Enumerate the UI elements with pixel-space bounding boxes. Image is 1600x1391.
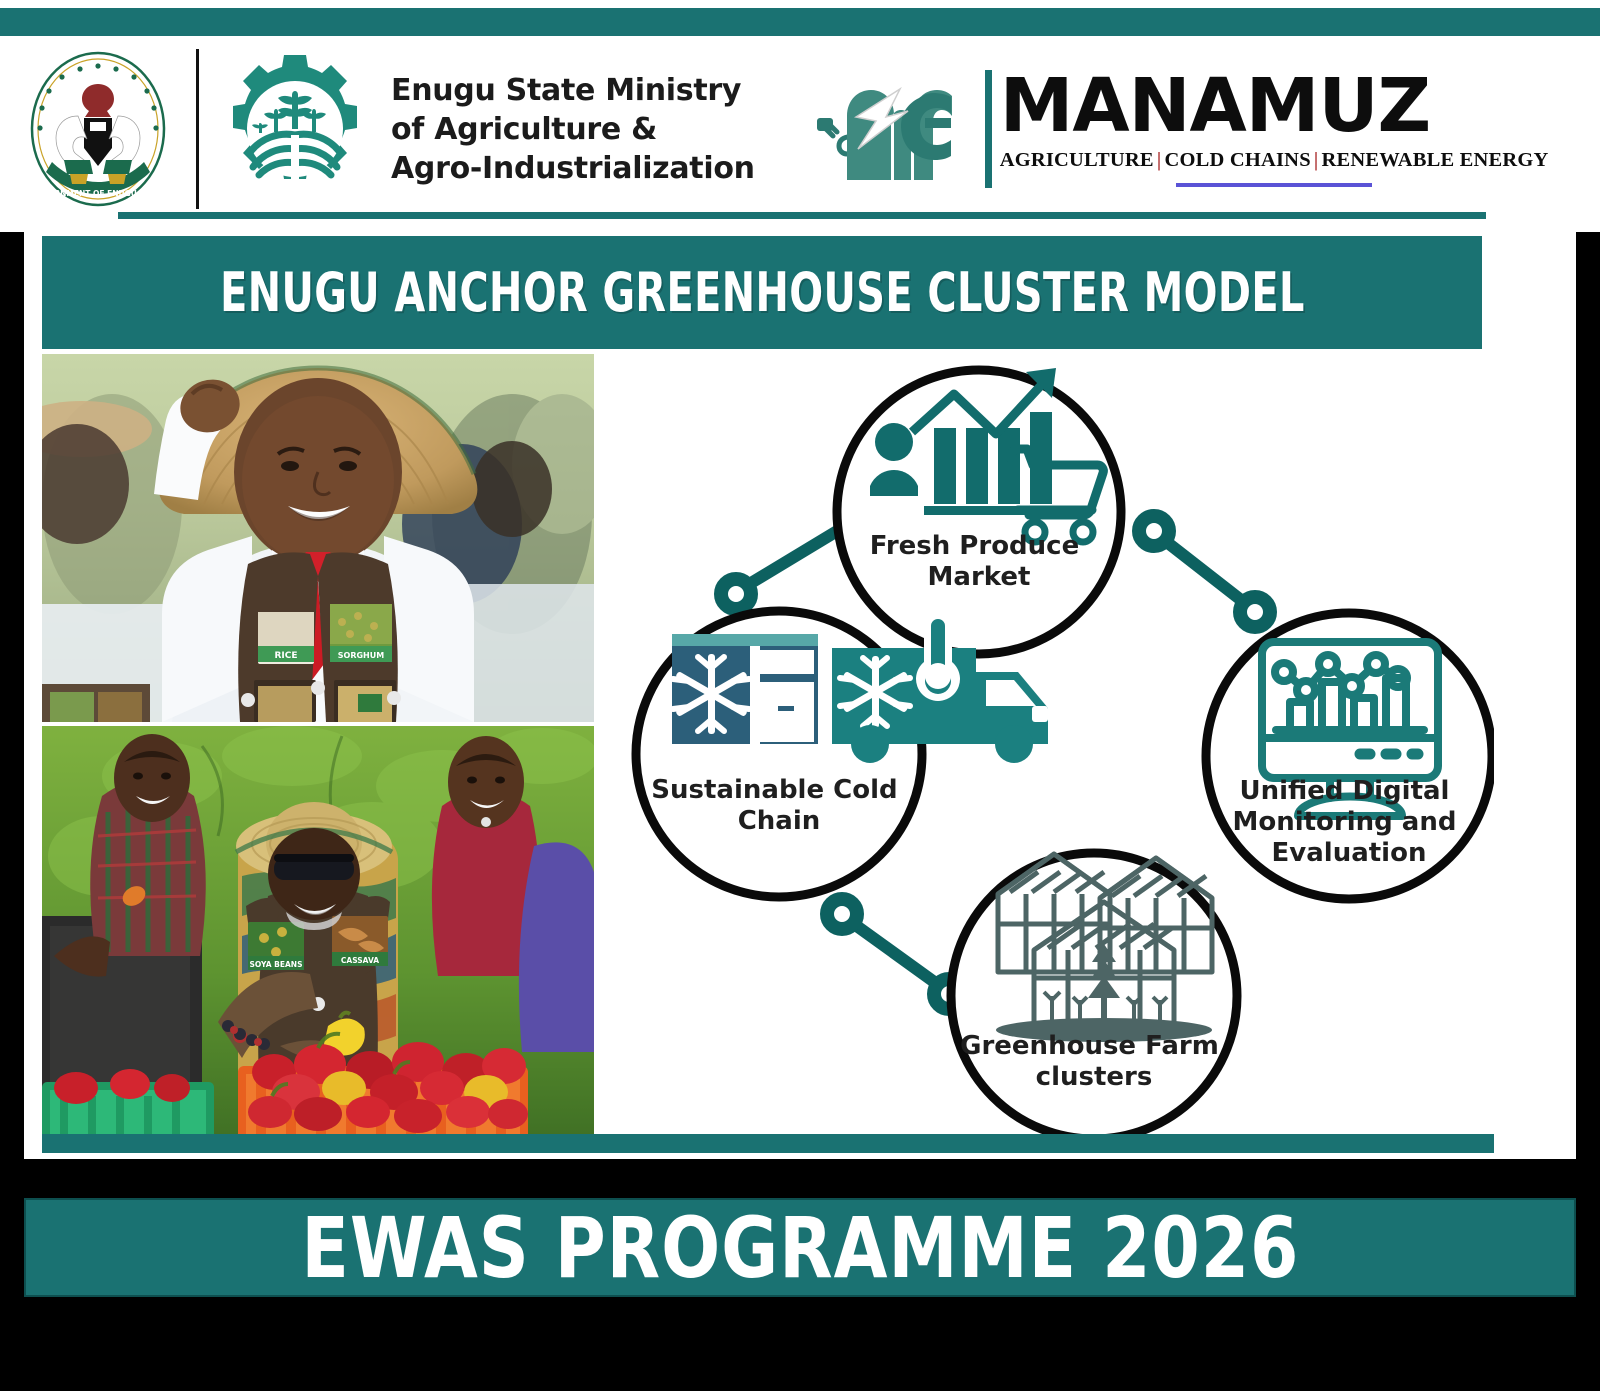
tagline-part-cold-chains: COLD CHAINS — [1165, 149, 1311, 171]
title-bar: ENUGU ANCHOR GREENHOUSE CLUSTER MODEL — [42, 236, 1482, 349]
ministry-name: Enugu State Ministry of Agriculture & Ag… — [391, 71, 755, 188]
photo-official-straw-hat-rice-sorghum-vest: RICE SORGHUM — [42, 354, 594, 722]
header-bottom-rule — [118, 212, 1486, 219]
manamuz-vertical-rule — [985, 70, 992, 188]
tagline-separator-1: | — [1154, 149, 1165, 171]
footer-programme-title: EWAS PROGRAMME 2026 — [301, 1199, 1299, 1297]
tagline-part-agriculture: AGRICULTURE — [1000, 149, 1154, 171]
vest-badge-sorghum: SORGHUM — [338, 651, 384, 660]
manamuz-tagline: AGRICULTURE|COLD CHAINS|RENEWABLE ENERGY — [1000, 149, 1549, 172]
photo-column: RICE SORGHUM — [42, 354, 594, 1144]
photo-farmers-with-crate-of-peppers: SOYA BEANS CASSAVA — [42, 726, 594, 1144]
top-teal-strip — [0, 8, 1600, 36]
footer-banner: EWAS PROGRAMME 2026 — [24, 1198, 1576, 1297]
crest-ring-text: GOVERNMENT OF ENUGU STATE — [31, 189, 165, 198]
vest-badge-cassava: CASSAVA — [341, 956, 379, 965]
vest-badge-rice: RICE — [274, 651, 297, 661]
connector-market-to-monitoring — [1159, 536, 1250, 607]
node-unified-digital-monitoring-and-evaluation[interactable]: Unified Digital Monitoring and Evaluatio… — [1206, 613, 1492, 899]
vest-badge-soya-beans: SOYA BEANS — [250, 960, 303, 969]
node-greenhouse-farm-clusters[interactable]: Greenhouse Farm clusters — [951, 853, 1237, 1139]
manamuz-underline — [1176, 183, 1372, 187]
content-card: ENUGU ANCHOR GREENHOUSE CLUSTER MODEL — [42, 236, 1494, 1153]
connector-greenhouse-to-cold-chain — [847, 919, 944, 989]
enugu-state-coat-of-arms-icon: GOVERNMENT OF ENUGU STATE — [18, 44, 178, 214]
card-bottom-teal-strip — [42, 1134, 1494, 1153]
manamuz-wordmark: MANAMUZ — [1000, 71, 1549, 141]
poster-root: GOVERNMENT OF ENUGU STATE — [0, 0, 1600, 1391]
gear-crop-logo-icon — [215, 49, 375, 209]
header-divider — [196, 49, 199, 209]
manamuz-me-mark-icon — [801, 62, 981, 197]
page-title: ENUGU ANCHOR GREENHOUSE CLUSTER MODEL — [220, 261, 1305, 324]
tagline-separator-2: | — [1311, 149, 1322, 171]
cluster-model-diagram: Fresh Produce Market — [594, 354, 1494, 1144]
tagline-part-renewable-energy: RENEWABLE ENERGY — [1322, 149, 1549, 171]
manamuz-logo: MANAMUZ AGRICULTURE|COLD CHAINS|RENEWABL… — [801, 62, 1549, 197]
header: GOVERNMENT OF ENUGU STATE — [0, 36, 1600, 222]
node-fresh-produce-market[interactable]: Fresh Produce Market — [837, 368, 1121, 654]
